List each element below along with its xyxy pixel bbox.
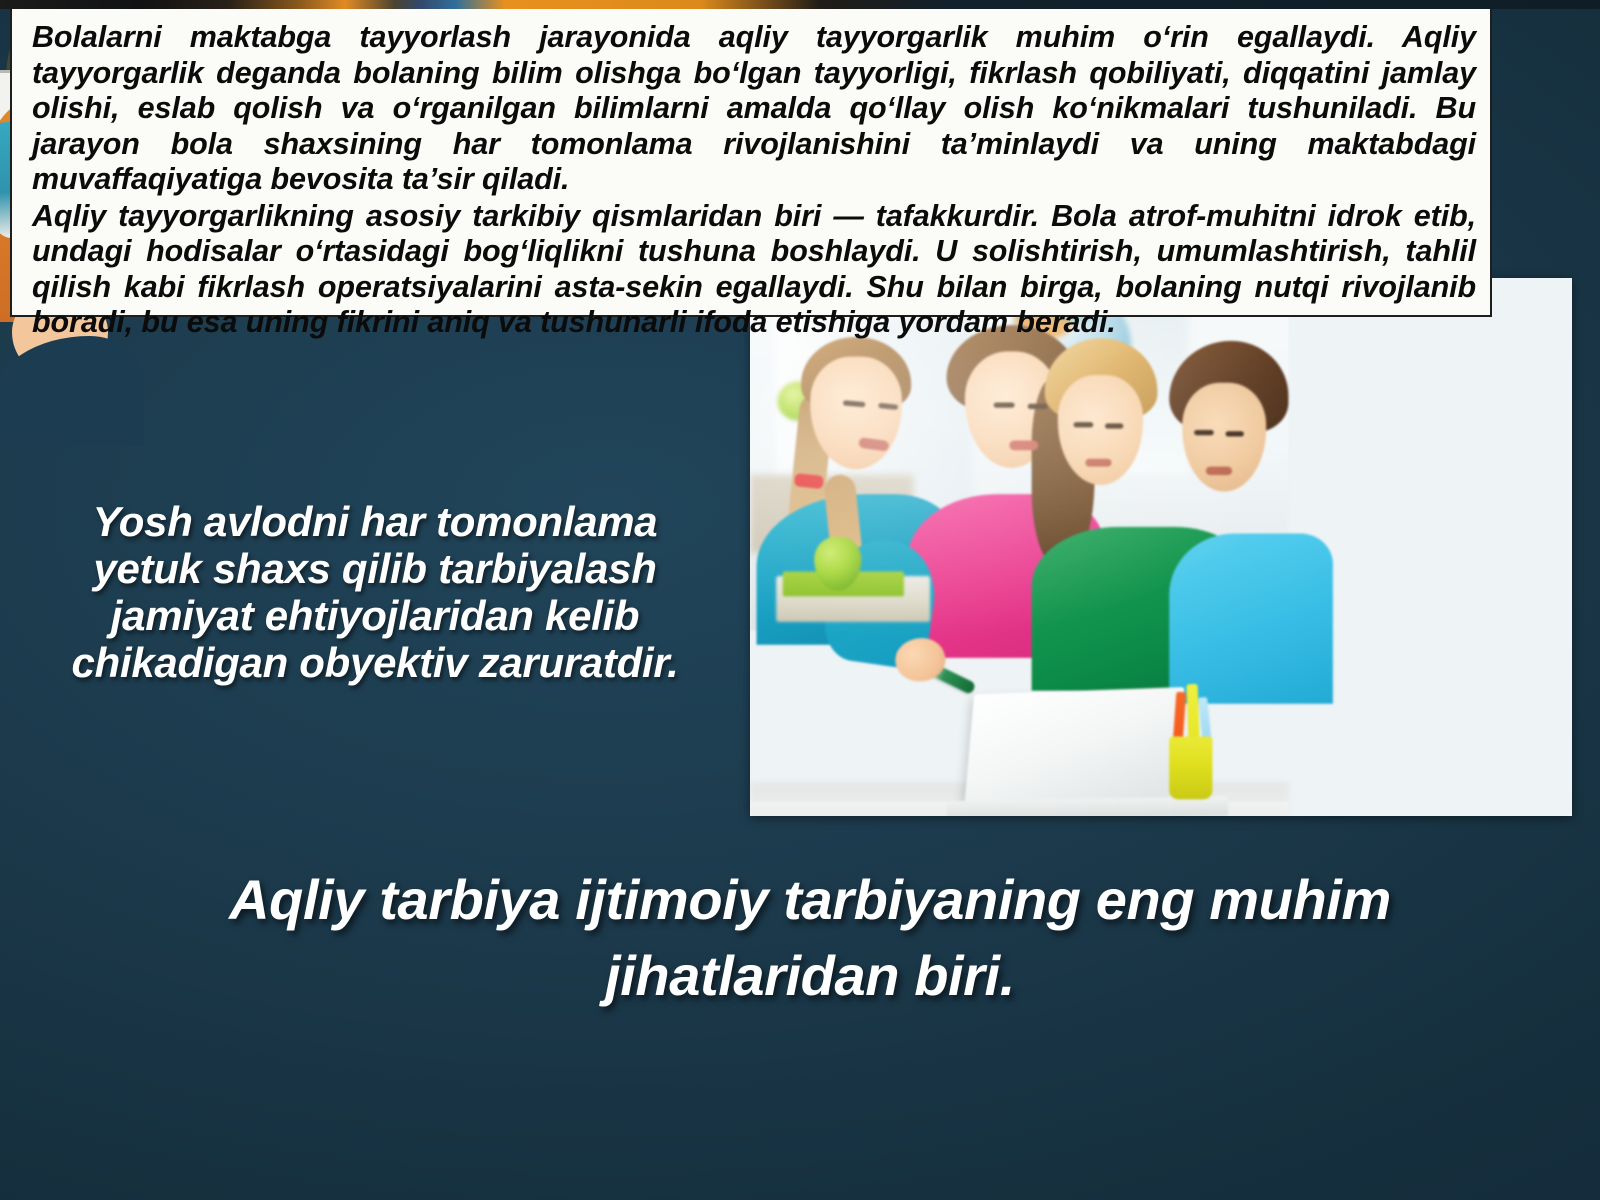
laptop-icon	[964, 687, 1185, 811]
boy-green-eye-left	[1074, 422, 1094, 427]
top-edge-color-strip	[0, 0, 1600, 9]
boy-green-eye-right	[1105, 423, 1123, 428]
boy-blue-eye-right	[1226, 431, 1244, 436]
girl-pink-eye-right	[1028, 404, 1048, 409]
quote-text: Yosh avlodni har tomonlama yetuk shaxs q…	[40, 498, 710, 686]
boy-blue-eye-left	[1194, 430, 1214, 435]
presentation-slide: Bolalarni maktabga tayyorlash jarayonida…	[0, 0, 1600, 1200]
body-paragraph-2: Aqliy tayyorgarlikning asosiy tarkibiy q…	[32, 199, 1476, 341]
classroom-children-photo	[750, 278, 1572, 816]
boy-green-mouth	[1085, 459, 1111, 467]
photo-content	[750, 278, 1572, 816]
boy-blue-mouth	[1206, 467, 1232, 476]
slide-headline: Aqliy tarbiya ijtimoiy tarbiyaning eng m…	[150, 862, 1470, 1014]
yellow-pen-cup-icon	[1169, 737, 1212, 800]
boy-blue-body	[1169, 533, 1333, 703]
girl-pink-mouth	[1009, 440, 1038, 450]
body-text-card: Bolalarni maktabga tayyorlash jarayonida…	[10, 6, 1492, 317]
body-paragraph-1: Bolalarni maktabga tayyorlash jarayonida…	[32, 20, 1476, 198]
girl-pink-eye-left	[994, 402, 1015, 407]
